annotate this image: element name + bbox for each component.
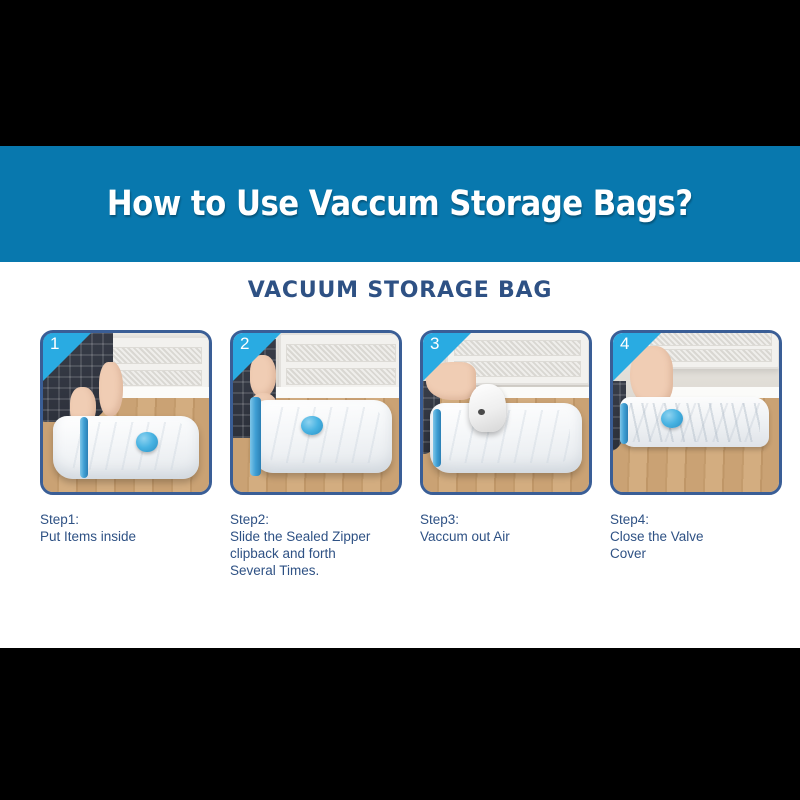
- badge-number: 1: [50, 335, 59, 352]
- infographic-page: How to Use Vaccum Storage Bags? VACUUM S…: [0, 0, 800, 800]
- step-card-2: 2 Step2: Slide the Sealed Zipper clipbac…: [230, 330, 402, 579]
- step-card-3: 3 Step3: Vaccum out Air: [420, 330, 592, 579]
- badge-number: 2: [240, 335, 249, 352]
- step-caption-2: Step2: Slide the Sealed Zipper clipback …: [230, 511, 402, 579]
- valve-cap: [136, 432, 158, 453]
- badge-number: 4: [620, 335, 629, 352]
- step-badge-1: 1: [43, 333, 91, 381]
- banner-title: How to Use Vaccum Storage Bags?: [107, 184, 693, 224]
- zipper-strip: [620, 403, 628, 444]
- valve-cover: [661, 409, 683, 428]
- badge-number: 3: [430, 335, 439, 352]
- step-photo-3: 3: [420, 330, 592, 495]
- step-caption-3: Step3: Vaccum out Air: [420, 511, 592, 545]
- step-photo-4: 4: [610, 330, 782, 495]
- step-photo-2: 2: [230, 330, 402, 495]
- compressed-bag: [620, 397, 769, 448]
- step-badge-4: 4: [613, 333, 661, 381]
- vacuum-bag: [53, 416, 199, 480]
- arm-right: [99, 362, 122, 416]
- step-caption-4: Step4: Close the Valve Cover: [610, 511, 782, 562]
- vacuum-bag: [430, 403, 583, 473]
- shelf-unit: [279, 333, 402, 394]
- steps-row: 1 Step1: Put Items inside: [40, 330, 764, 579]
- vacuum-bag: [253, 400, 392, 473]
- zipper-strip: [80, 417, 88, 477]
- letterbox-top: [0, 0, 800, 146]
- step-caption-1: Step1: Put Items inside: [40, 511, 212, 545]
- valve-cap: [301, 416, 323, 435]
- step-photo-1: 1: [40, 330, 212, 495]
- step-badge-3: 3: [423, 333, 471, 381]
- step-card-1: 1 Step1: Put Items inside: [40, 330, 212, 579]
- step-card-4: 4 Step4: Close the Valve Cover: [610, 330, 782, 579]
- content-area: VACUUM STORAGE BAG: [0, 262, 800, 648]
- vacuum-pump: [469, 384, 506, 432]
- zipper-strip: [433, 409, 441, 466]
- section-title: VACUUM STORAGE BAG: [0, 278, 800, 303]
- letterbox-bottom: [0, 648, 800, 800]
- step-badge-2: 2: [233, 333, 281, 381]
- header-banner: How to Use Vaccum Storage Bags?: [0, 146, 800, 262]
- zipper-strip: [250, 397, 262, 477]
